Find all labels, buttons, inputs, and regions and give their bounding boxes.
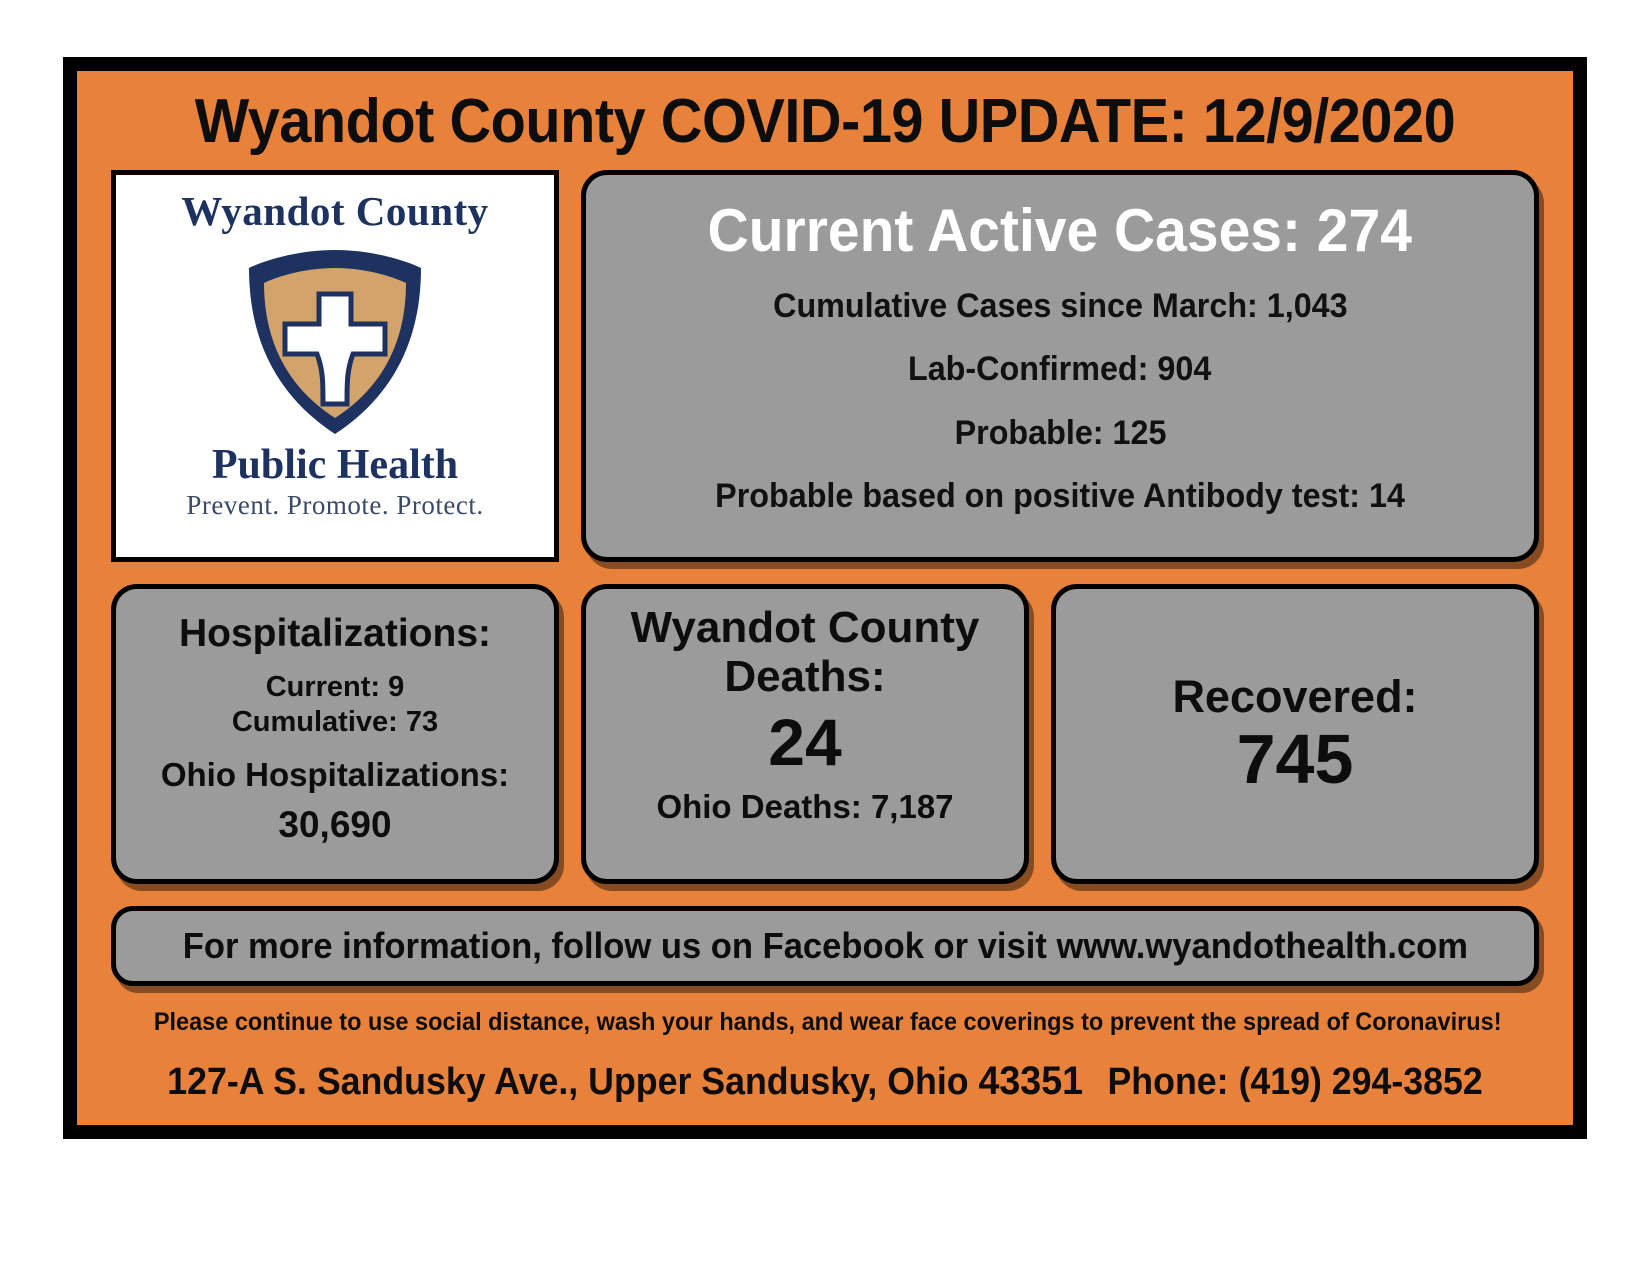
ohio-hospitalizations-value: 30,690: [278, 805, 391, 846]
agency-logo: Wyandot County Public Health Prevent. Pr…: [111, 170, 559, 562]
ohio-hospitalizations-label: Ohio Hospitalizations:: [161, 757, 509, 793]
recovered-card: Recovered: 745: [1051, 584, 1539, 884]
ohio-deaths-value: Ohio Deaths: 7,187: [656, 789, 953, 825]
page-title: Wyandot County COVID-19 UPDATE: 12/9/202…: [161, 89, 1489, 154]
hospitalizations-card: Hospitalizations: Current: 9 Cumulative:…: [111, 584, 559, 884]
footer-zip: 43351: [978, 1059, 1083, 1103]
footer-address-line: 127-A S. Sandusky Ave., Upper Sandusky, …: [154, 1059, 1496, 1104]
footer: Please continue to use social distance, …: [111, 1008, 1539, 1104]
footer-phone: Phone: (419) 294-3852: [1107, 1061, 1482, 1103]
hospitalizations-title: Hospitalizations:: [179, 613, 491, 656]
deaths-value: 24: [768, 708, 841, 777]
logo-line-public-health: Public Health: [212, 444, 458, 486]
shield-cross-icon: [231, 242, 439, 442]
hospitalizations-cumulative: Cumulative: 73: [232, 705, 438, 740]
lab-confirmed-line: Lab-Confirmed: 904: [908, 351, 1211, 388]
deaths-card: Wyandot County Deaths: 24 Ohio Deaths: 7…: [581, 584, 1029, 884]
active-cases-card: Current Active Cases: 274 Cumulative Cas…: [581, 170, 1539, 562]
cumulative-cases-line: Cumulative Cases since March: 1,043: [773, 288, 1347, 325]
probable-line: Probable: 125: [954, 415, 1166, 452]
footer-precaution-note: Please continue to use social distance, …: [154, 1008, 1496, 1037]
probable-antibody-line: Probable based on positive Antibody test…: [715, 478, 1405, 515]
active-cases-headline: Current Active Cases: 274: [708, 199, 1412, 262]
logo-line-county: Wyandot County: [181, 191, 488, 232]
poster-inner: Wyandot County COVID-19 UPDATE: 12/9/202…: [77, 71, 1573, 1125]
deaths-title-county: Wyandot County: [631, 603, 980, 652]
middle-row: Hospitalizations: Current: 9 Cumulative:…: [111, 584, 1539, 884]
hospitalizations-current: Current: 9: [266, 670, 405, 705]
recovered-value: 745: [1237, 723, 1354, 797]
more-information-bar[interactable]: For more information, follow us on Faceb…: [111, 906, 1539, 986]
recovered-title: Recovered:: [1172, 672, 1417, 722]
footer-address: 127-A S. Sandusky Ave., Upper Sandusky, …: [167, 1061, 978, 1103]
more-information-text: For more information, follow us on Faceb…: [182, 925, 1467, 967]
logo-tagline: Prevent. Promote. Protect.: [186, 492, 483, 519]
poster-frame: Wyandot County COVID-19 UPDATE: 12/9/202…: [63, 57, 1587, 1139]
deaths-title-label: Deaths:: [724, 652, 885, 701]
top-row: Wyandot County Public Health Prevent. Pr…: [111, 170, 1539, 562]
